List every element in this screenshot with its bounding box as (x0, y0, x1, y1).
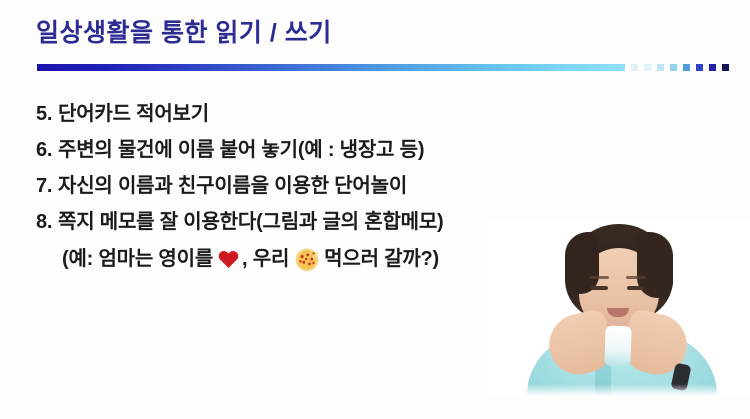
divider-dot-icon (644, 64, 651, 71)
list-item: 5. 단어카드 적어보기 (36, 96, 556, 132)
list-item-number: 5. (36, 96, 58, 132)
gradient-bar (37, 64, 625, 71)
example-text-after-pizza: 먹으러 갈까?) (324, 241, 439, 277)
list-item-text: 자신의 이름과 친구이름을 이용한 단어놀이 (58, 168, 407, 204)
presenter-eye-left (591, 286, 608, 290)
example-line: (예: 엄마는 영이를 , 우리 (36, 240, 556, 278)
page-title: 일상생활을 통한 읽기 / 쓰기 (36, 16, 332, 50)
example-text-between: , 우리 (242, 241, 289, 277)
example-text-before-heart: (예: 엄마는 영이를 (62, 241, 213, 277)
divider-dot-icon (722, 64, 729, 71)
presenter-eyebrow-right (626, 276, 646, 279)
list-item: 6. 주변의 물건에 이름 붙어 놓기(예 : 냉장고 등) (36, 132, 556, 168)
divider-dot-icon (670, 64, 677, 71)
list-item: 8. 쪽지 메모를 잘 이용한다(그림과 글의 혼합메모) (36, 204, 556, 240)
divider-dot-icon (696, 64, 703, 71)
presenter-eye-right (627, 286, 644, 290)
pizza-emoji-icon (294, 246, 320, 272)
presenter-eyebrow-left (589, 276, 609, 279)
list-item-number: 6. (36, 132, 58, 168)
list-item-text: 쪽지 메모를 잘 이용한다(그림과 글의 혼합메모) (58, 204, 444, 240)
slide-canvas: 일상생활을 통한 읽기 / 쓰기 5. 단어카드 적어보기 6. 주변의 물건에… (0, 0, 750, 419)
list-item-number: 7. (36, 168, 58, 204)
presenter-photo (487, 222, 750, 398)
list-item-number: 8. (36, 204, 58, 240)
divider-dot-icon (683, 64, 690, 71)
list-item-text: 주변의 물건에 이름 붙어 놓기(예 : 냉장고 등) (58, 132, 424, 168)
red-heart-emoji-icon (218, 249, 239, 269)
content-list: 5. 단어카드 적어보기 6. 주변의 물건에 이름 붙어 놓기(예 : 냉장고… (36, 96, 556, 278)
presenter-photo-inner (487, 222, 750, 398)
divider-dot-icon (657, 64, 664, 71)
divider-dot-icon (631, 64, 638, 71)
divider-dot-icon (709, 64, 716, 71)
presenter-photo-fade (487, 384, 750, 398)
divider-dot-group (631, 64, 729, 71)
list-item-text: 단어카드 적어보기 (58, 96, 209, 132)
list-item: 7. 자신의 이름과 친구이름을 이용한 단어놀이 (36, 168, 556, 204)
presenter-hand-gap (604, 326, 631, 367)
title-divider (37, 64, 737, 74)
presenter-hair-left (565, 232, 599, 294)
